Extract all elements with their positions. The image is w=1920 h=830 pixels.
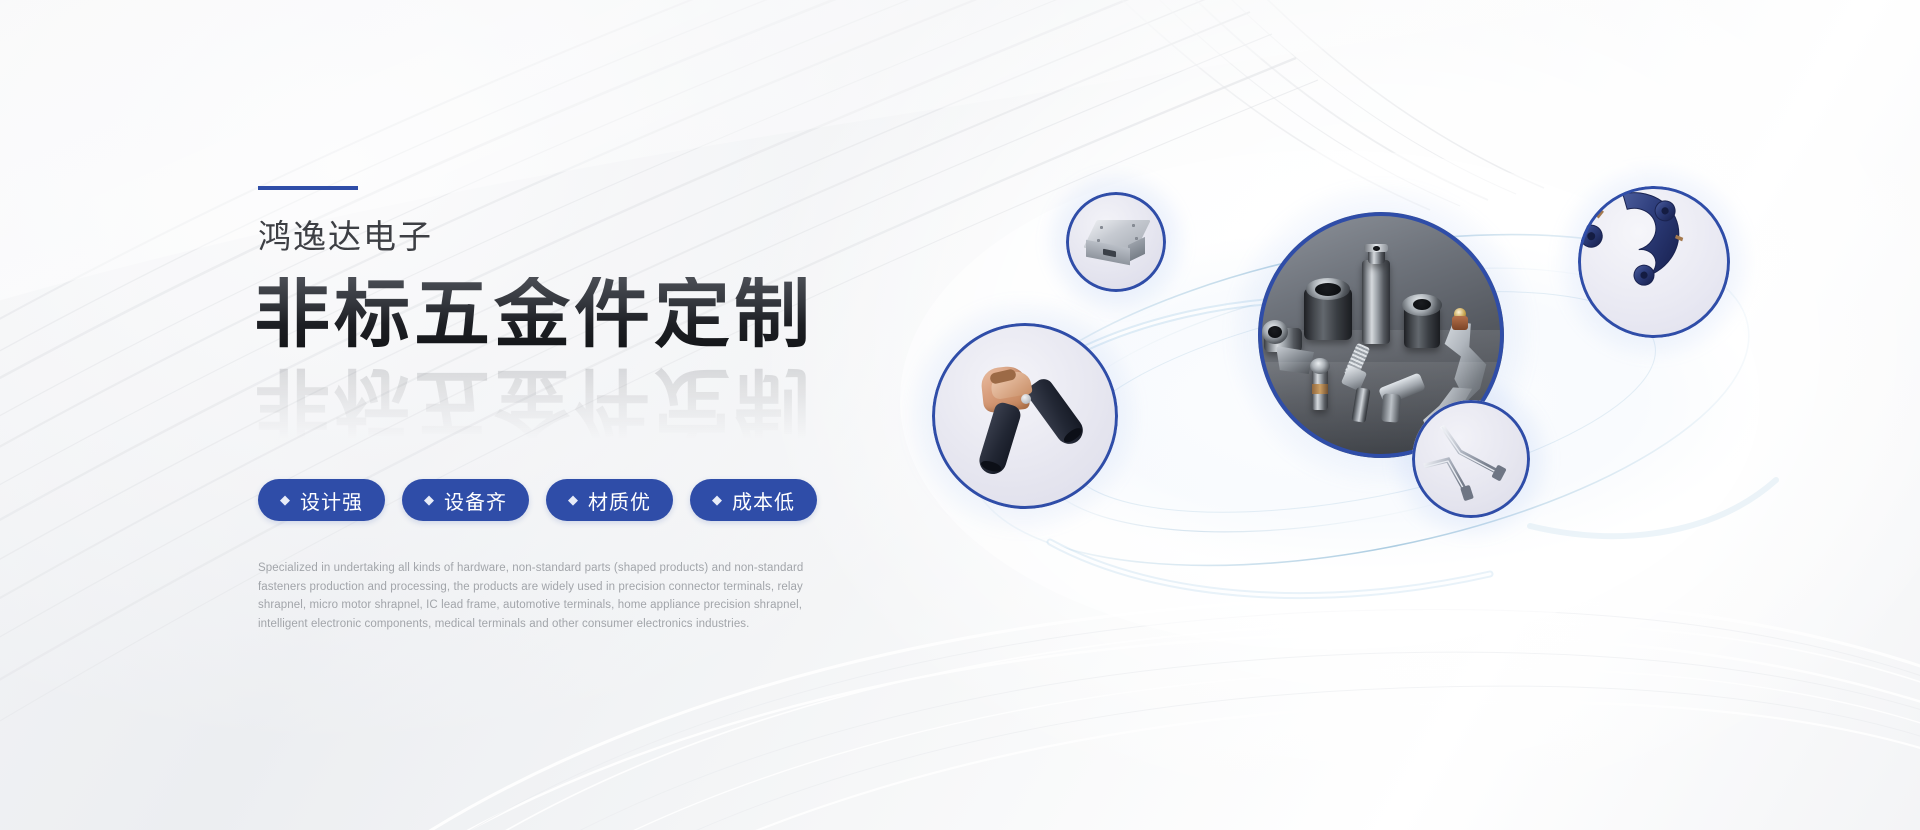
brand-name: 鸿逸达电子 xyxy=(258,220,878,253)
product-bubble-metal-enclosure-box[interactable] xyxy=(1066,192,1166,292)
headline-reflection: 非标五金件定制 xyxy=(254,363,814,439)
feature-tag-cost[interactable]: ◆ 成本低 xyxy=(690,479,817,521)
page-title: 非标五金件定制 xyxy=(254,277,878,353)
headline-wrapper: 非标五金件定制 非标五金件定制 xyxy=(254,277,878,427)
diamond-icon: ◆ xyxy=(712,493,723,506)
diamond-icon: ◆ xyxy=(568,493,579,506)
feature-tag-list: ◆ 设计强 ◆ 设备齐 ◆ 材质优 ◆ 成本低 xyxy=(258,479,878,521)
hero-text-column: 鸿逸达电子 非标五金件定制 非标五金件定制 ◆ 设计强 ◆ 设备齐 ◆ 材质优 … xyxy=(258,186,878,634)
copper-battery-clamp-icon xyxy=(932,323,1118,509)
feature-tag-material[interactable]: ◆ 材质优 xyxy=(546,479,673,521)
feature-tag-label: 材质优 xyxy=(588,486,651,515)
hero-banner: 鸿逸达电子 非标五金件定制 非标五金件定制 ◆ 设计强 ◆ 设备齐 ◆ 材质优 … xyxy=(0,0,1920,830)
feature-tag-label: 设计强 xyxy=(300,486,363,515)
feature-tag-label: 设备齐 xyxy=(444,486,507,515)
feature-tag-equipment[interactable]: ◆ 设备齐 xyxy=(402,479,529,521)
product-bubble-navy-retaining-clip[interactable] xyxy=(1578,186,1730,338)
accent-bar xyxy=(258,186,358,190)
company-description: Specialized in undertaking all kinds of … xyxy=(258,559,818,634)
navy-retaining-clip-icon xyxy=(1578,186,1730,338)
diamond-icon: ◆ xyxy=(280,493,291,506)
product-showcase xyxy=(930,150,1790,670)
feature-tag-label: 成本低 xyxy=(732,486,795,515)
metal-enclosure-box-icon xyxy=(1066,192,1166,292)
product-bubble-bent-metal-pins[interactable] xyxy=(1412,400,1530,518)
feature-tag-design[interactable]: ◆ 设计强 xyxy=(258,479,385,521)
diamond-icon: ◆ xyxy=(424,493,435,506)
product-bubble-copper-battery-clamp[interactable] xyxy=(932,323,1118,509)
bent-metal-pins-icon xyxy=(1412,400,1530,518)
